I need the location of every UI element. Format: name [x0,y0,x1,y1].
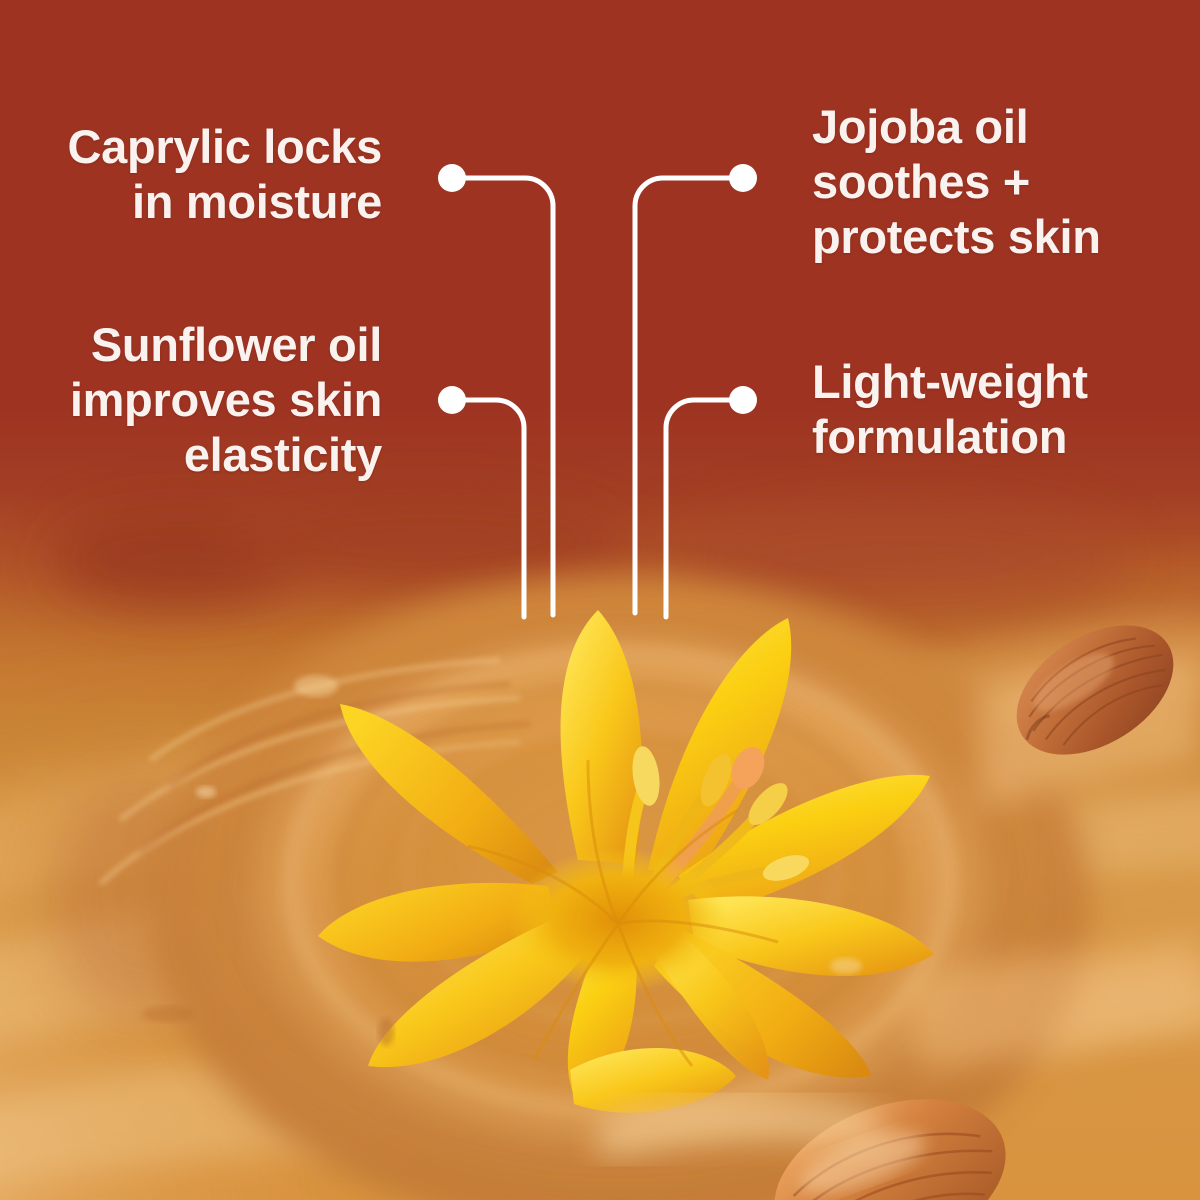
callout-sunflower: Sunflower oil improves skin elasticity [42,318,382,483]
callout-light-weight: Light-weight formulation [812,355,1162,465]
callout-jojoba: Jojoba oil soothes + protects skin [812,100,1162,265]
callout-caprylic: Caprylic locks in moisture [42,120,382,230]
infographic-canvas: Caprylic locks in moisture Sunflower oil… [0,0,1200,1200]
